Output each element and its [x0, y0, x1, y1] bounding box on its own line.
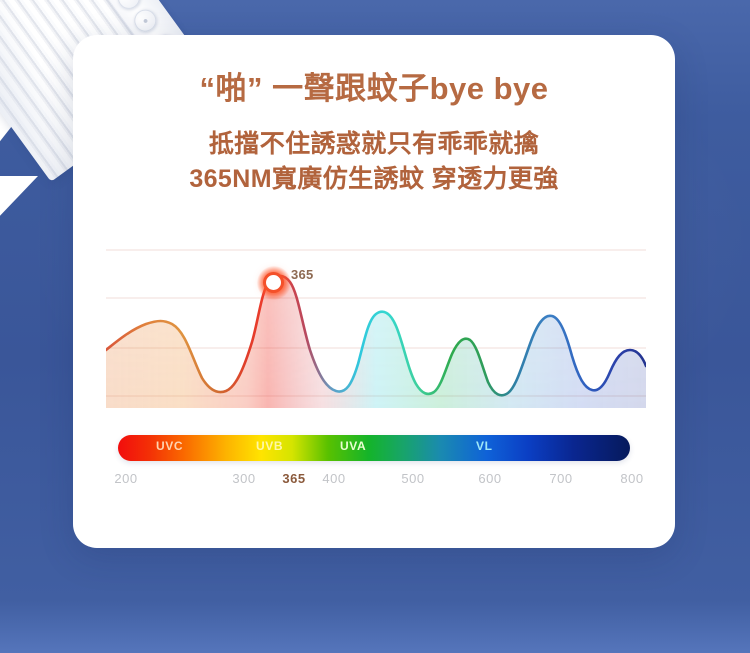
- tick-300: 300: [232, 471, 255, 486]
- subtitle-line-2: 365NM寬廣仿生誘蚊 穿透力更強: [73, 162, 675, 197]
- page-title: “啪” 一聲跟蚊子bye bye: [73, 35, 675, 108]
- spectrum-gradient-bar: UVC UVB UVA VL: [118, 435, 630, 461]
- tick-365: 365: [282, 471, 305, 486]
- spectrum-wave-svg: [106, 238, 646, 408]
- content-card: “啪” 一聲跟蚊子bye bye 抵擋不住誘惑就只有乖乖就擒 365NM寬廣仿生…: [73, 35, 675, 548]
- band-label-vl: VL: [476, 439, 493, 453]
- tick-200: 200: [114, 471, 137, 486]
- subtitle-line-1: 抵擋不住誘惑就只有乖乖就擒: [73, 108, 675, 162]
- band-label-uvc: UVC: [156, 439, 183, 453]
- band-label-uvb: UVB: [256, 439, 283, 453]
- peak-marker-365: [266, 275, 281, 290]
- tick-700: 700: [549, 471, 572, 486]
- band-label-uva: UVA: [340, 439, 366, 453]
- peak-label-365: 365: [291, 267, 314, 282]
- wavelength-axis: 200 300 365 400 500 600 700 800: [106, 471, 642, 493]
- spectrum-chart: 365: [106, 238, 646, 408]
- tick-600: 600: [478, 471, 501, 486]
- tick-400: 400: [322, 471, 345, 486]
- tick-500: 500: [401, 471, 424, 486]
- tick-800: 800: [620, 471, 643, 486]
- product-promo-page: ✦ ● ⚙ “啪” 一聲跟蚊子bye bye 抵擋不住誘惑就只有乖乖就擒 365…: [0, 0, 750, 653]
